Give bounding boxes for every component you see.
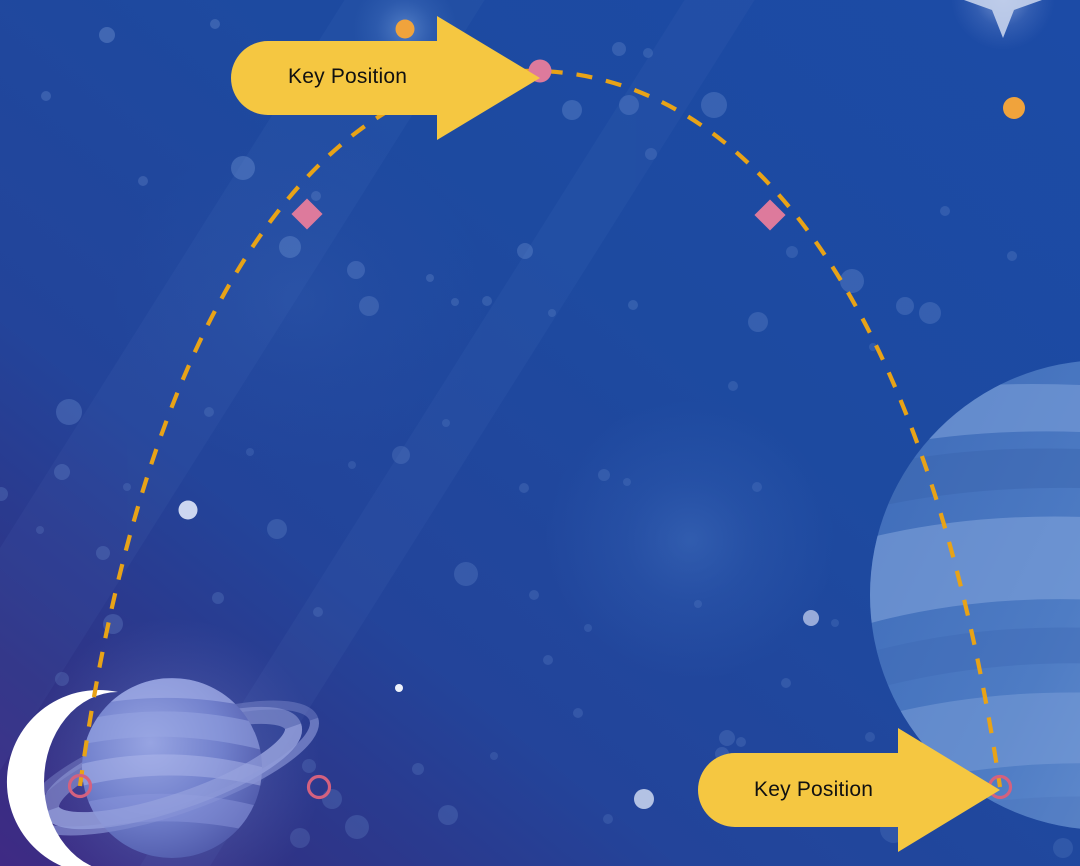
pale-blue-dot-mid — [803, 610, 819, 626]
pale-blue-dot-lower — [634, 789, 654, 809]
nebula-glow-secondary — [110, 130, 490, 470]
space-trajectory-scene: Key Position Key Position — [0, 0, 1080, 866]
blue-moonlet — [179, 501, 198, 520]
nebula-glow — [545, 400, 835, 680]
callout-top-hit-target[interactable] — [245, 38, 540, 142]
callout-bottom-hit-target[interactable] — [710, 750, 1000, 854]
orange-star-right — [1003, 97, 1025, 119]
white-star-speck — [395, 684, 403, 692]
scene-canvas — [0, 0, 1080, 866]
